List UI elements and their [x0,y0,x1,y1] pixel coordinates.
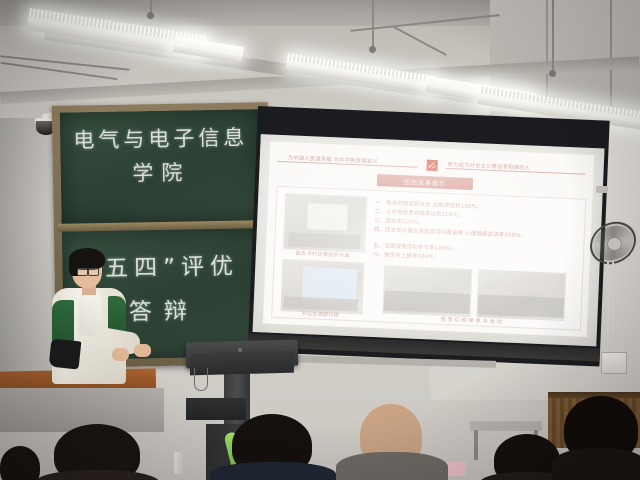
slide-photo-3 [382,265,472,317]
slide-photo-2 [280,259,364,314]
presenter-hand-right [134,344,151,357]
ceiling-wire [0,55,129,71]
light-hanger-2 [372,0,374,50]
slide-photo-4 [476,269,566,321]
podium-equipment-box [186,398,246,420]
audience-body-2 [210,462,336,480]
slide-banner-title-text: 团团成果展示 [404,177,446,188]
slide-content: 为中国人民谋幸福 为中华民族谋复兴 努力成为社会主义建设者和接班人 团团成果展示 [263,142,594,337]
light-hanger-cap-3 [549,70,556,77]
audience-body-5 [552,448,640,480]
duct-seam-2 [546,0,548,110]
ceiling-fitting [596,186,608,193]
wall-switch-box[interactable] [601,352,627,374]
slide-photo-1 [283,193,367,252]
side-desk-leg-1 [474,430,478,460]
bullet-4-num: 四、 [374,227,385,233]
light-hanger-cap-2 [369,46,376,53]
blackboard-line-1: 电气与电子信息 [60,121,261,155]
light-hanger-3 [552,0,554,74]
audience-body-3 [336,452,448,480]
bullet-6-num: 六、 [373,252,384,258]
bullet-6-text: 推优可上报率100%； [384,252,440,260]
blackboard-upper-panel: 电气与电子信息 学院 [60,109,263,224]
fan-pull-cord-2[interactable] [612,262,614,332]
ceiling-wire-4 [393,26,447,56]
projection-screen: 为中国人民谋幸福 为中华民族谋复兴 努力成为社会主义建设者和接班人 团团成果展示 [248,106,610,367]
slide-banner-title: 团团成果展示 [377,174,473,190]
bullet-5-num: 五、 [373,243,384,249]
blackboard-line-2: 学院 [61,155,262,189]
ceiling-wire-2 [0,62,117,80]
presenter-hand-left [112,348,129,361]
side-desk [470,420,542,431]
audience-head-6 [0,446,40,480]
bullet-1-num: 一、 [375,200,386,206]
fan-pull-cord-1[interactable] [607,262,609,340]
party-emblem-icon [425,159,438,172]
podium-indicator-light [238,348,242,352]
bullet-3-num: 三、 [374,218,385,224]
podium-cable [194,368,208,391]
classroom-photo: 电气与电子信息 学院 “五四”评优 答辩 为中国人民谋幸福 为中华民族谋复兴 努… [0,0,640,480]
bullet-2-num: 二、 [375,209,386,215]
presenter-glasses-right [88,268,99,276]
screen-surface: 为中国人民谋幸福 为中华民族谋复兴 努力成为社会主义建设者和接班人 团团成果展示 [253,134,605,346]
presenter-jacket-black-panel [49,339,82,370]
light-hanger-cap-1 [147,12,154,19]
wall-fan [590,222,636,264]
presenter-glasses-left [77,268,88,276]
water-bottle [174,452,183,474]
bullet-4-text: 团支部开展主题教育活动覆盖率 心理健康宣讲率100%； [385,227,526,239]
slide-body: 团支书时日常组织大会 书记交流研讨班 一、每月的团组织大会 出勤率达到100%；… [271,186,586,331]
presenter-shirt [79,292,101,336]
fan-hub [607,237,622,251]
